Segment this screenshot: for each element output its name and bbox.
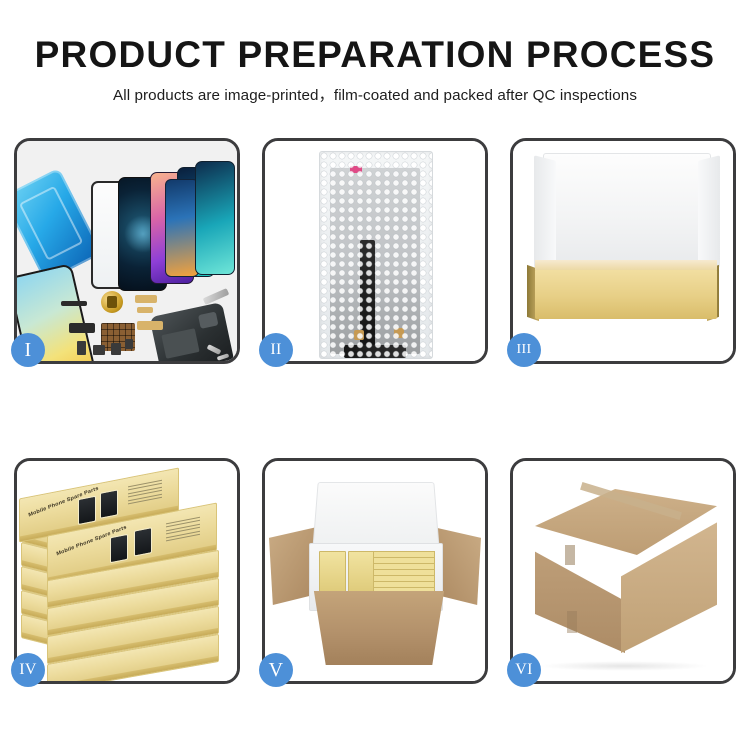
carton-shadow bbox=[539, 661, 709, 671]
flex-cable-part-1 bbox=[135, 295, 157, 303]
bubble-wrap-bag bbox=[319, 151, 433, 359]
carton-seam-2 bbox=[567, 611, 577, 633]
box-thumbnail-1a bbox=[78, 496, 96, 525]
phone-back-plate bbox=[149, 302, 234, 361]
phone-screen-orange bbox=[165, 179, 199, 277]
small-part-2 bbox=[93, 345, 105, 355]
step-1-photo bbox=[17, 141, 237, 361]
page-title: PRODUCT PREPARATION PROCESS bbox=[0, 0, 750, 76]
process-step-panel-6: VI bbox=[510, 458, 736, 684]
step-4-photo: Mobile Phone Spare Parts Mobile Phone Sp… bbox=[17, 461, 237, 681]
process-step-panel-3: III bbox=[510, 138, 736, 364]
infographic-page: PRODUCT PREPARATION PROCESS All products… bbox=[0, 0, 750, 750]
packed-box-2 bbox=[348, 551, 375, 597]
step-5-photo bbox=[265, 461, 485, 681]
box-stack: Mobile Phone Spare Parts Mobile Phone Sp… bbox=[17, 461, 237, 681]
step-badge-6: VI bbox=[507, 653, 541, 687]
pink-tab-marker bbox=[350, 166, 362, 173]
camera-module-part bbox=[69, 323, 95, 333]
phone-screen-teal-2 bbox=[195, 161, 235, 275]
speaker-module-icon bbox=[101, 291, 123, 313]
flex-cable-part-2 bbox=[137, 307, 153, 313]
process-step-panel-2: II bbox=[262, 138, 488, 364]
battery-strip-part bbox=[61, 301, 87, 306]
step-badge-5: V bbox=[259, 653, 293, 687]
carton-seam-1 bbox=[565, 545, 575, 565]
step-badge-1: I bbox=[11, 333, 45, 367]
small-part-3 bbox=[111, 343, 121, 355]
flex-cable-part-3 bbox=[137, 321, 163, 330]
box-thumbnail-2a bbox=[110, 534, 128, 563]
page-subtitle: All products are image-printed，film-coat… bbox=[0, 76, 750, 105]
carton-body bbox=[305, 591, 453, 665]
process-step-panel-4: Mobile Phone Spare Parts Mobile Phone Sp… bbox=[14, 458, 240, 684]
packed-box-1 bbox=[319, 551, 346, 597]
box-thumbnail-2b bbox=[134, 527, 152, 556]
connector-part-2 bbox=[394, 328, 404, 338]
box-spec-lines-1 bbox=[128, 480, 162, 509]
step-badge-3: III bbox=[507, 333, 541, 367]
step-badge-2: II bbox=[259, 333, 293, 367]
step-6-photo bbox=[513, 461, 733, 681]
small-part-4 bbox=[125, 339, 133, 349]
process-step-panel-1: I bbox=[14, 138, 240, 364]
box-spec-lines-2 bbox=[166, 517, 200, 546]
step-2-photo bbox=[265, 141, 485, 361]
step-3-photo bbox=[513, 141, 733, 361]
process-step-panel-5: V bbox=[262, 458, 488, 684]
kraft-box-tray bbox=[535, 269, 717, 319]
step-badge-4: IV bbox=[11, 653, 45, 687]
box-thumbnail-1b bbox=[100, 489, 118, 518]
wrapped-part-body bbox=[330, 168, 420, 354]
connector-part-1 bbox=[354, 330, 364, 340]
header: PRODUCT PREPARATION PROCESS All products… bbox=[0, 0, 750, 105]
process-step-grid: I II bbox=[14, 138, 736, 684]
small-part-1 bbox=[77, 341, 86, 355]
flex-cable-strip bbox=[360, 240, 375, 358]
